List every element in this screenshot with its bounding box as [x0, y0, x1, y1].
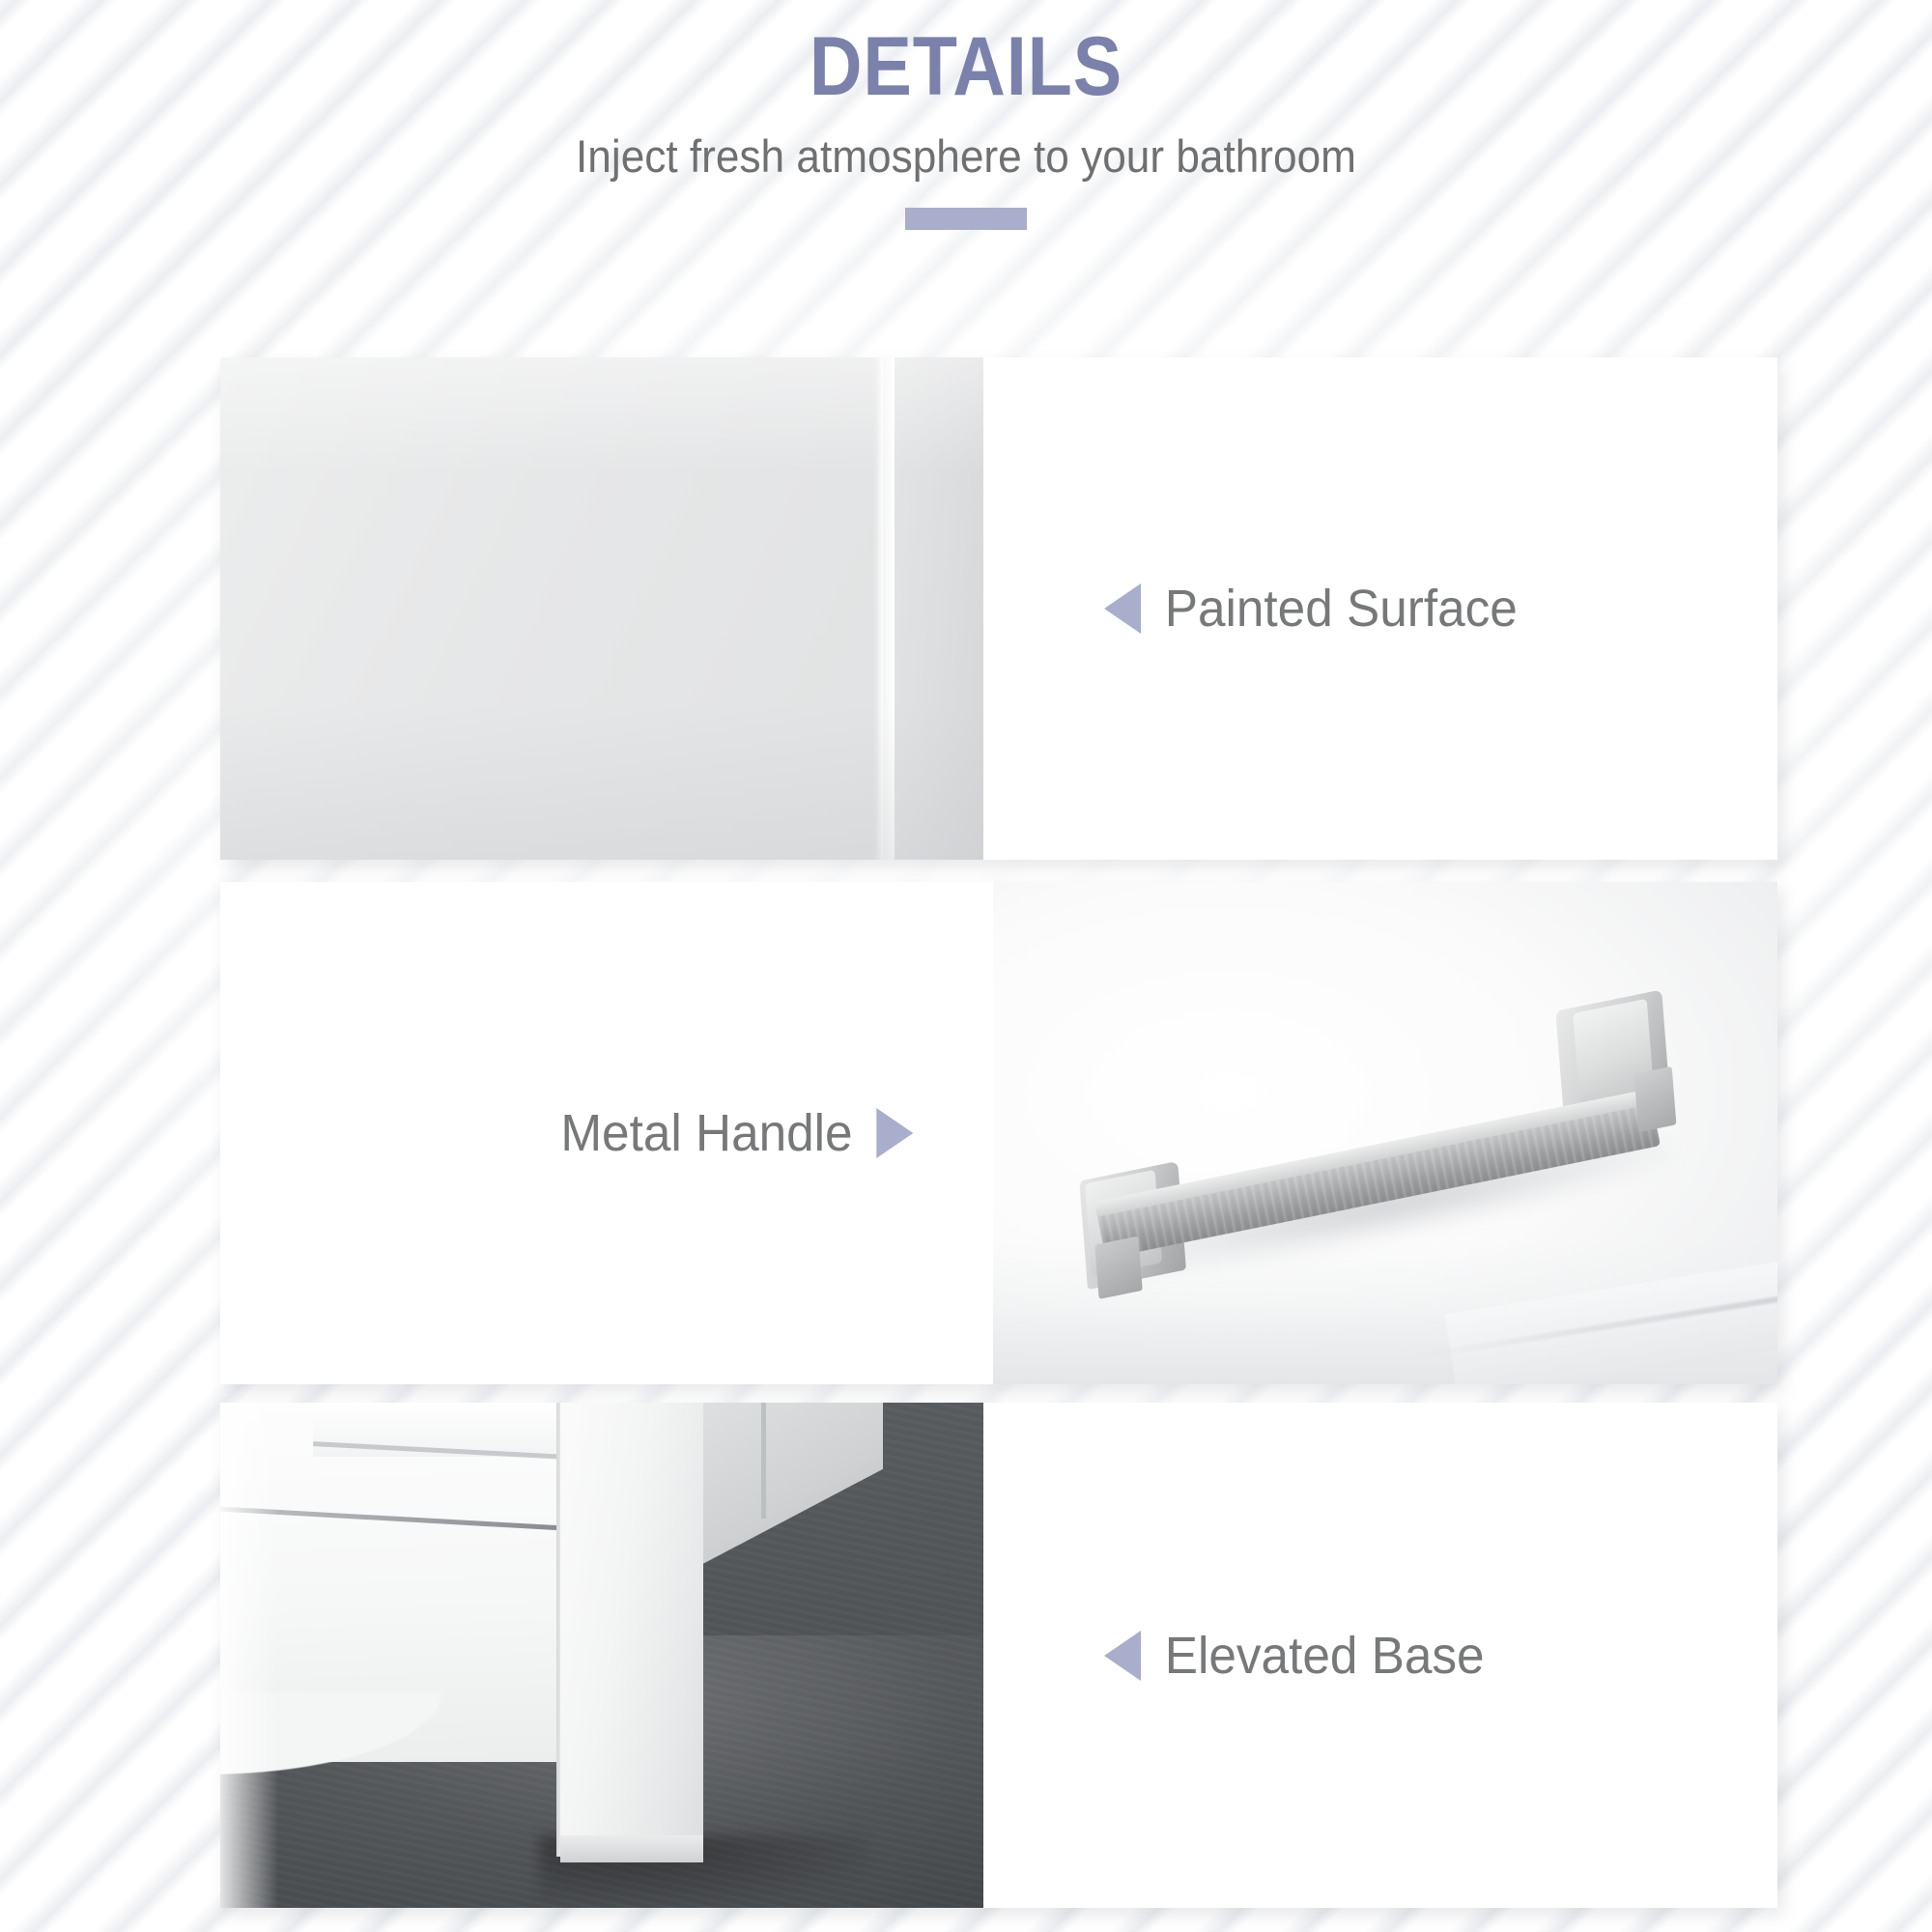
arrow-right-icon [876, 1108, 913, 1158]
painted-panel-top-light [220, 357, 983, 473]
caption-painted-surface: Painted Surface [1004, 579, 1758, 639]
caption-elevated-base: Elevated Base [1004, 1626, 1758, 1686]
caption-metal-handle: Metal Handle [240, 1103, 974, 1163]
feature-label-painted-surface: Painted Surface [1165, 579, 1518, 639]
feature-card-metal-handle: Metal Handle [220, 882, 1777, 1384]
page-title: DETAILS [116, 25, 1816, 108]
cabinet-leg [560, 1403, 703, 1857]
cabinet-side-seam [761, 1403, 766, 1519]
page-subtitle: Inject fresh atmosphere to your bathroom [58, 133, 1874, 179]
feature-label-elevated-base: Elevated Base [1165, 1626, 1485, 1686]
handle-bar-end-left [1094, 1236, 1143, 1299]
caption-pane-metal-handle: Metal Handle [220, 882, 993, 1384]
photo-left-glow [220, 1403, 278, 1908]
feature-card-elevated-base: Elevated Base [220, 1403, 1777, 1908]
arrow-left-icon [1104, 583, 1141, 634]
caption-pane-elevated-base: Elevated Base [983, 1403, 1777, 1908]
photo-elevated-base [220, 1403, 983, 1908]
feature-label-metal-handle: Metal Handle [560, 1103, 852, 1163]
details-page: DETAILS Inject fresh atmosphere to your … [0, 0, 1932, 1932]
photo-metal-handle [993, 882, 1777, 1384]
handle-bar-end-right [1634, 1066, 1676, 1132]
feature-card-painted-surface: Painted Surface [220, 357, 1777, 860]
arrow-left-icon [1104, 1631, 1141, 1681]
photo-painted-surface [220, 357, 983, 860]
caption-pane-painted-surface: Painted Surface [983, 357, 1777, 860]
cabinet-leg-foot [560, 1835, 703, 1862]
header-divider-bar [905, 208, 1027, 230]
painted-panel-bottom-shade [220, 705, 983, 860]
page-header: DETAILS Inject fresh atmosphere to your … [0, 0, 1932, 230]
